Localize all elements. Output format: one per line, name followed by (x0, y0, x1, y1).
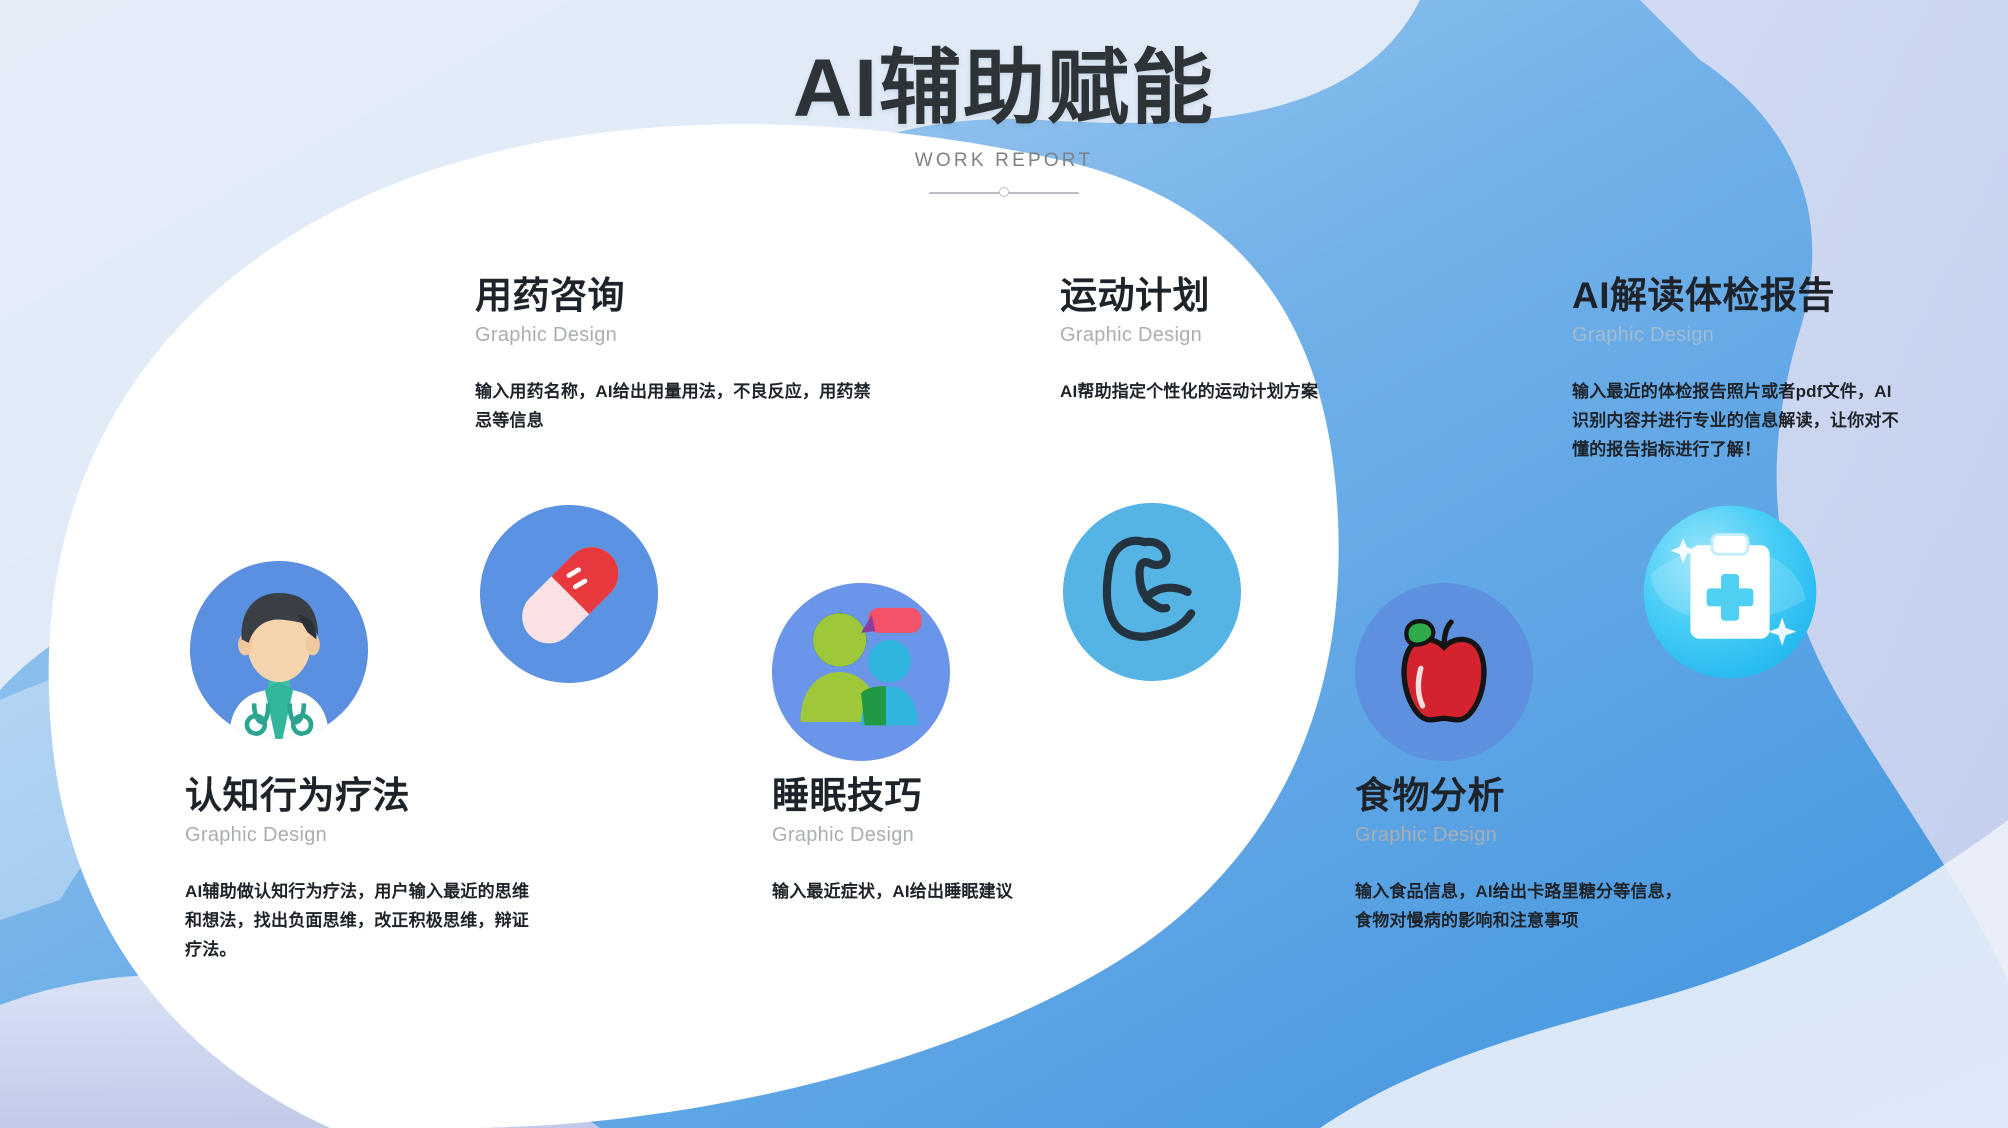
medical-clipboard-icon (1640, 502, 1820, 682)
page-subtitle: WORK REPORT (0, 150, 2008, 172)
feature-subtitle: Graphic Design (185, 824, 545, 847)
feature-sleep[interactable]: 睡眠技巧 Graphic Design 输入最近症状，AI给出睡眠建议 (772, 775, 1112, 906)
two-people-talking-icon-svg (772, 583, 950, 761)
two-people-talking-icon (772, 583, 950, 761)
feature-title: 用药咨询 (475, 275, 875, 318)
divider-dot-icon (999, 187, 1009, 197)
slide-canvas: AI辅助赋能 WORK REPORT (0, 0, 2008, 1128)
feature-subtitle: Graphic Design (1572, 324, 1902, 347)
feature-title: 运动计划 (1060, 275, 1390, 318)
feature-description: 输入最近症状，AI给出睡眠建议 (772, 877, 1112, 906)
medical-clipboard-icon-svg (1640, 502, 1820, 682)
feature-subtitle: Graphic Design (1060, 324, 1390, 347)
header-divider (929, 186, 1079, 200)
muscle-icon (1063, 503, 1241, 681)
feature-description: AI辅助做认知行为疗法，用户输入最近的思维和想法，找出负面思维，改正积极思维，辩… (185, 877, 545, 965)
feature-subtitle: Graphic Design (1355, 824, 1695, 847)
muscle-icon-svg (1063, 503, 1241, 681)
feature-description: 输入食品信息，AI给出卡路里糖分等信息，食物对慢病的影响和注意事项 (1355, 877, 1695, 935)
doctor-icon (190, 561, 368, 739)
feature-exercise[interactable]: 运动计划 Graphic Design AI帮助指定个性化的运动计划方案 (1060, 275, 1390, 406)
feature-subtitle: Graphic Design (475, 324, 875, 347)
doctor-icon-svg (190, 561, 368, 739)
feature-title: 认知行为疗法 (185, 775, 545, 818)
page-title: AI辅助赋能 (0, 46, 2008, 132)
feature-description: 输入用药名称，AI给出用量用法，不良反应，用药禁忌等信息 (475, 377, 875, 435)
apple-icon-svg (1355, 583, 1533, 761)
feature-title: 睡眠技巧 (772, 775, 1112, 818)
feature-title: AI解读体检报告 (1572, 275, 1902, 318)
pill-icon (480, 505, 658, 683)
feature-report[interactable]: AI解读体检报告 Graphic Design 输入最近的体检报告照片或者pdf… (1572, 275, 1902, 464)
feature-description: AI帮助指定个性化的运动计划方案 (1060, 377, 1390, 406)
feature-subtitle: Graphic Design (772, 824, 1112, 847)
feature-title: 食物分析 (1355, 775, 1695, 818)
feature-food[interactable]: 食物分析 Graphic Design 输入食品信息，AI给出卡路里糖分等信息，… (1355, 775, 1695, 935)
feature-cbt[interactable]: 认知行为疗法 Graphic Design AI辅助做认知行为疗法，用户输入最近… (185, 775, 545, 964)
feature-description: 输入最近的体检报告照片或者pdf文件，AI识别内容并进行专业的信息解读，让你对不… (1572, 377, 1902, 465)
apple-icon (1355, 583, 1533, 761)
pill-icon-svg (480, 505, 658, 683)
feature-medication[interactable]: 用药咨询 Graphic Design 输入用药名称，AI给出用量用法，不良反应… (475, 275, 875, 435)
slide-header: AI辅助赋能 WORK REPORT (0, 46, 2008, 200)
